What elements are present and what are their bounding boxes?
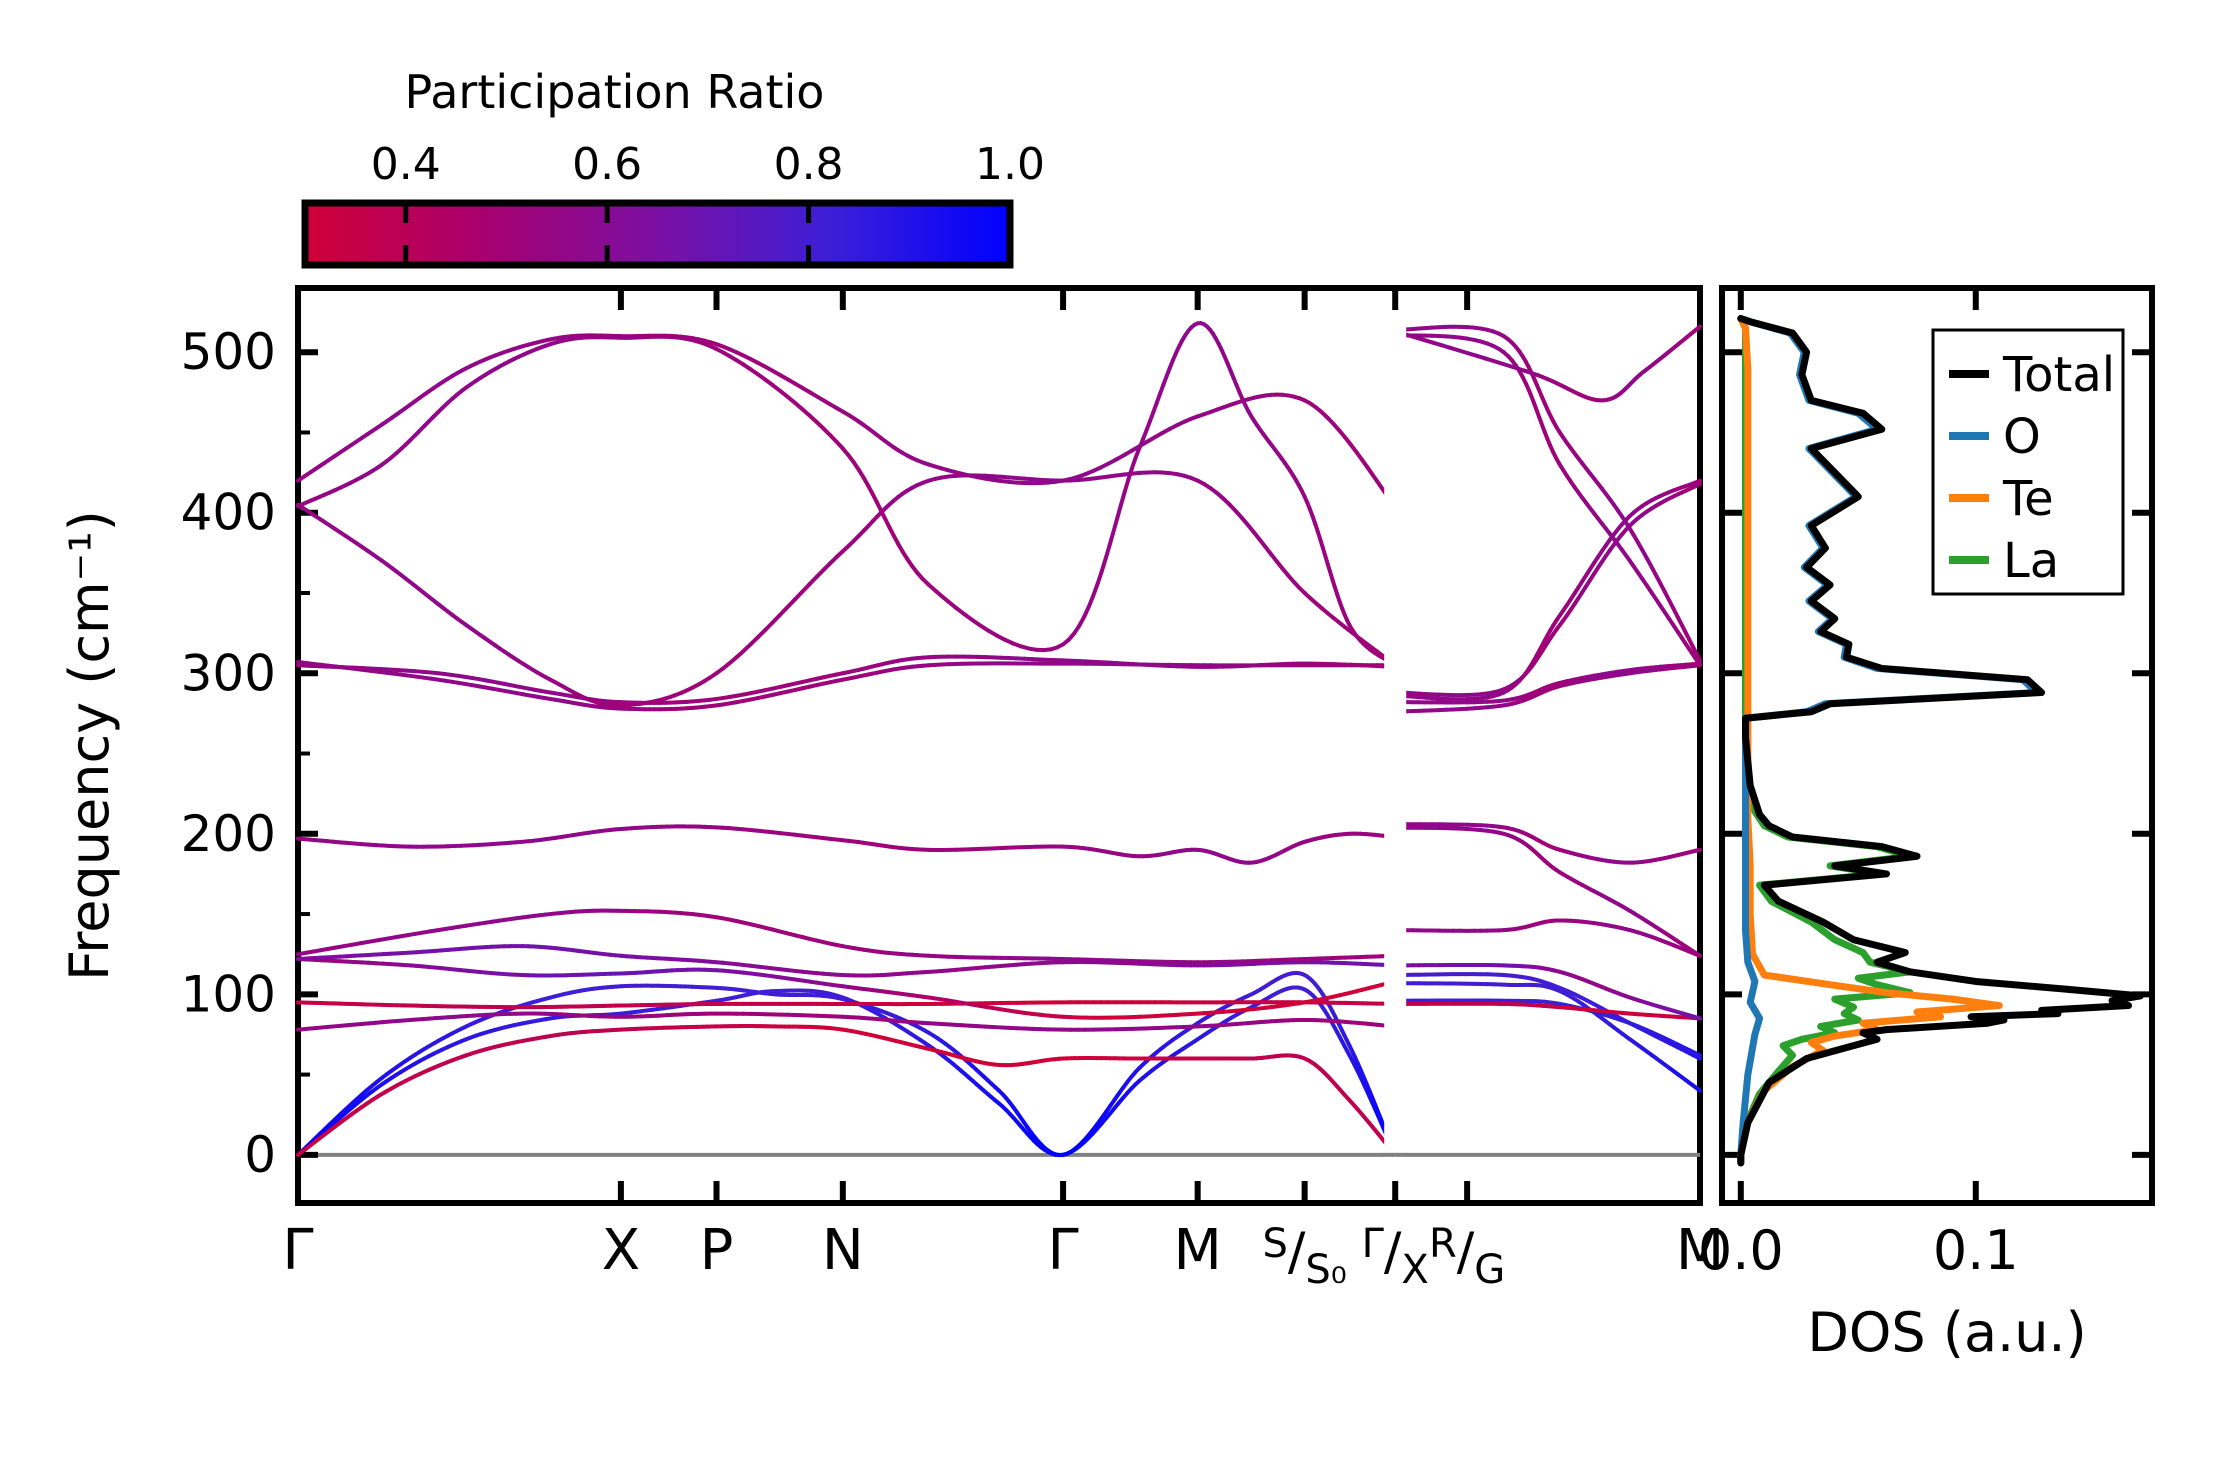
x-tick-label: M	[1173, 1218, 1221, 1283]
band-branch-C2	[298, 662, 1395, 709]
band-branch-C3	[298, 472, 1395, 705]
band-branch-A3b	[1395, 1000, 1700, 1055]
legend-label-total: Total	[2002, 347, 2115, 403]
x-tick-label: Γ/X	[1362, 1221, 1429, 1293]
colorbar-gradient	[305, 203, 1010, 265]
colorbar-tick-label: 0.6	[572, 139, 642, 190]
legend-label-la: La	[2003, 533, 2059, 589]
band-branch-A3	[298, 1026, 1395, 1155]
band-branch-C3b	[1395, 484, 1700, 695]
y-tick-label: 100	[181, 965, 276, 1023]
dos-x-tick-label: 0.0	[1698, 1219, 1784, 1282]
path-break-gap	[1384, 292, 1406, 1199]
phonon-figure: 0.40.60.81.0Participation Ratio010020030…	[0, 0, 2222, 1455]
colorbar-tick-label: 0.4	[371, 139, 441, 190]
x-tick-label: R/G	[1429, 1221, 1505, 1293]
y-tick-label: 500	[181, 323, 276, 381]
legend-label-o: O	[2003, 409, 2041, 465]
x-tick-label: P	[700, 1218, 734, 1283]
colorbar-title: Participation Ratio	[405, 65, 825, 119]
y-tick-label: 200	[181, 805, 276, 863]
x-tick-label: S/S₀	[1262, 1221, 1346, 1293]
legend-label-te: Te	[2002, 471, 2054, 527]
colorbar-tick-label: 1.0	[975, 139, 1045, 190]
x-tick-label: Γ	[1047, 1218, 1078, 1283]
figure-canvas: 0.40.60.81.0Participation Ratio010020030…	[0, 0, 2222, 1455]
band-branch-C5b	[1395, 327, 1700, 661]
band-branch-A2	[298, 973, 1395, 1155]
y-tick-label: 400	[181, 484, 276, 542]
dos-x-tick-label: 0.1	[1933, 1219, 2019, 1282]
band-branch-B5	[298, 911, 1395, 963]
y-tick-label: 0	[244, 1126, 276, 1184]
y-axis-label: Frequency (cm⁻¹)	[58, 510, 121, 981]
dos-x-axis-label: DOS (a.u.)	[1807, 1301, 2086, 1364]
band-branch-B3	[298, 959, 1395, 1018]
x-tick-label: Γ	[282, 1218, 313, 1283]
x-tick-label: X	[602, 1218, 640, 1283]
y-tick-label: 300	[181, 644, 276, 702]
band-branch-B6	[298, 826, 1395, 862]
band-branch-C4	[298, 335, 1395, 506]
x-tick-label: N	[822, 1218, 864, 1283]
colorbar-tick-label: 0.8	[774, 139, 844, 190]
band-branch-C5	[298, 323, 1395, 665]
